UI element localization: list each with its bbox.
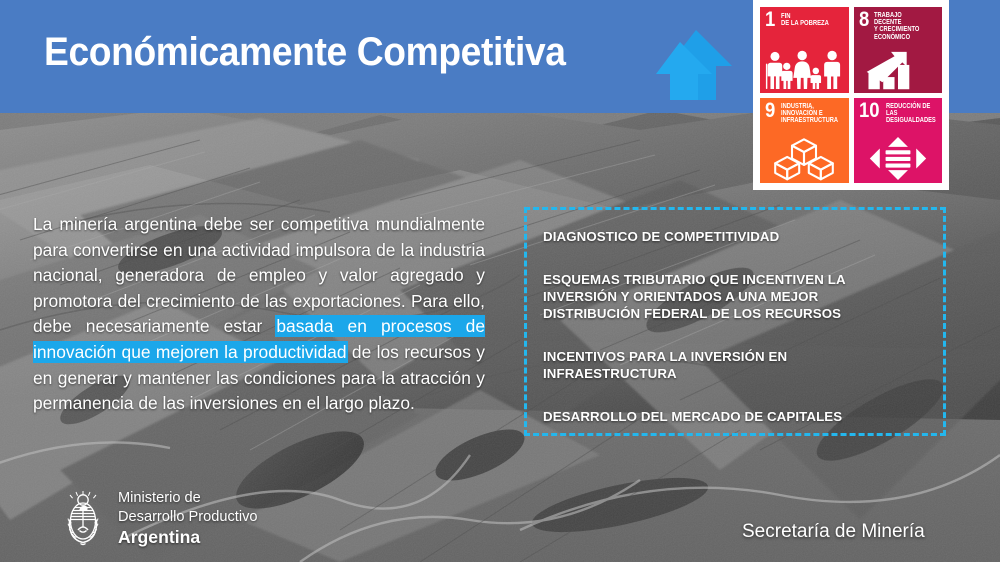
sdg-icon-10[interactable]: 10 REDUCCIÓN DE LAS DESIGUALDADES: [854, 98, 943, 184]
list-item: ESQUEMAS TRIBUTARIO QUE INCENTIVEN LA IN…: [543, 271, 927, 322]
sdg-label: TRABAJO DECENTE Y CRECIMIENTO ECONÓMICO: [874, 11, 927, 41]
sdg-icons-panel: 1 FIN DE LA POBREZA: [753, 0, 949, 190]
cubes-icon: [760, 136, 849, 181]
list-item: DIAGNOSTICO DE COMPETITIVIDAD: [543, 228, 927, 245]
competitiveness-items-box: DIAGNOSTICO DE COMPETITIVIDAD ESQUEMAS T…: [524, 207, 946, 436]
sdg-label: INDUSTRIA, INNOVACIÓN E INFRAESTRUCTURA: [781, 102, 838, 125]
page-title: Económicamente Competitiva: [44, 30, 566, 75]
secretaria-label: Secretaría de Minería: [742, 521, 925, 543]
up-arrow-icon: [650, 26, 734, 102]
ministry-line-2: Desarrollo Productivo: [118, 508, 258, 527]
sdg-number: 1: [765, 11, 775, 29]
sdg-label: FIN DE LA POBREZA: [781, 11, 829, 27]
body-paragraph: La minería argentina debe ser competitiv…: [33, 212, 485, 417]
ministry-logo-text: Ministerio de Desarrollo Productivo Arge…: [118, 489, 258, 549]
list-item: INCENTIVOS PARA LA INVERSIÓN EN INFRAEST…: [543, 348, 927, 382]
ministry-line-1: Ministerio de: [118, 489, 258, 508]
equality-arrows-icon: [854, 136, 943, 181]
growth-chart-arrow-icon: [854, 51, 943, 91]
ministry-logo: Ministerio de Desarrollo Productivo Arge…: [60, 489, 258, 549]
sdg-icon-9[interactable]: 9 INDUSTRIA, INNOVACIÓN E INFRAESTRUCTUR…: [760, 98, 849, 184]
sdg-number: 8: [859, 11, 869, 29]
sdg-icon-8[interactable]: 8 TRABAJO DECENTE Y CRECIMIENTO ECONÓMIC…: [854, 7, 943, 93]
sdg-number: 10: [859, 102, 880, 120]
argentina-coat-of-arms-icon: [60, 490, 106, 548]
sdg-icon-1[interactable]: 1 FIN DE LA POBREZA: [760, 7, 849, 93]
slide: Económicamente Competitiva 1 FIN DE LA P…: [0, 0, 1000, 562]
sdg-label: REDUCCIÓN DE LAS DESIGUALDADES: [886, 102, 936, 125]
ministry-line-3: Argentina: [118, 526, 258, 549]
family-group-icon: [760, 49, 849, 91]
list-item: DESARROLLO DEL MERCADO DE CAPITALES: [543, 408, 927, 425]
sdg-number: 9: [765, 102, 775, 120]
